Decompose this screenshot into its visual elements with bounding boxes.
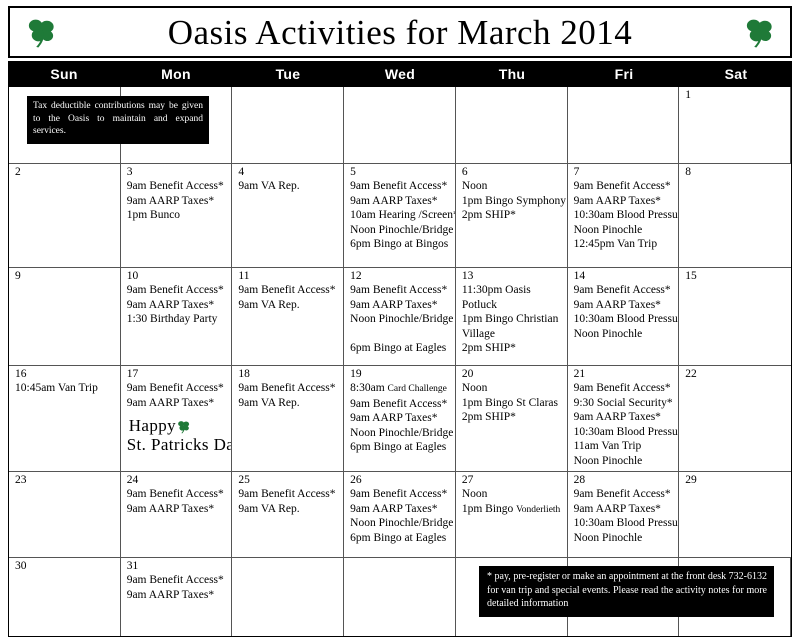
shamrock-icon: [176, 419, 191, 434]
event-item[interactable]: 1pm Bingo Christian: [462, 312, 563, 327]
event-item[interactable]: 1pm Bingo St Claras: [462, 396, 563, 411]
event-item[interactable]: 10am Hearing /Screen*: [350, 208, 451, 223]
day-number: 4: [238, 166, 339, 179]
event-list: 9am Benefit Access*9am AARP Taxes*10am H…: [350, 179, 451, 252]
weekday-tue: Tue: [232, 61, 344, 87]
event-item[interactable]: 2pm SHIP*: [462, 208, 563, 223]
event-item[interactable]: 1pm Bunco: [127, 208, 228, 223]
day-cell-empty[interactable]: [232, 87, 344, 163]
event-list: 9am Benefit Access*9am VA Rep.: [238, 487, 339, 516]
event-list: 9am Benefit Access*9:30 Social Security*…: [574, 381, 675, 468]
event-item[interactable]: 9am AARP Taxes*: [127, 194, 228, 209]
day-cell-10[interactable]: 109am Benefit Access*9am AARP Taxes*1:30…: [121, 268, 233, 365]
event-item[interactable]: 9am VA Rep.: [238, 298, 339, 313]
event-list: 9am Benefit Access*9am AARP Taxes*Noon P…: [350, 487, 451, 545]
event-list: Noon1pm Bingo Symphony2pm SHIP*: [462, 179, 563, 223]
event-item[interactable]: 11am Van Trip: [574, 439, 675, 454]
event-list: 9am Benefit Access*9am AARP Taxes*: [127, 573, 228, 602]
day-cell-1[interactable]: 1: [679, 87, 791, 163]
event-item[interactable]: 9am Benefit Access*: [238, 487, 339, 502]
event-item[interactable]: Noon Pinochle: [574, 223, 675, 238]
event-item[interactable]: Noon Pinochle/Bridge: [350, 223, 451, 238]
footnote-text: * pay, pre-register or make an appointme…: [487, 570, 767, 611]
event-item[interactable]: 6pm Bingo at Eagles: [350, 341, 451, 356]
day-cell-4[interactable]: 49am VA Rep.: [232, 164, 344, 267]
event-item[interactable]: 10:30am Blood Pressure: [574, 425, 675, 440]
event-item[interactable]: 9am Benefit Access*: [350, 179, 451, 194]
day-number: 15: [685, 270, 787, 283]
event-item[interactable]: 9am AARP Taxes*: [127, 396, 228, 411]
event-list: Noon1pm Bingo Vonderlieth: [462, 487, 563, 517]
donation-note-box: Tax deductible contributions may be give…: [27, 96, 209, 144]
day-number: 18: [238, 368, 339, 381]
event-list: 9am Benefit Access*9am AARP Taxes*1pm Bu…: [127, 179, 228, 223]
day-cell-13[interactable]: 1311:30pm OasisPotluck1pm Bingo Christia…: [456, 268, 568, 365]
calendar-grid: 1Tax deductible contributions may be giv…: [8, 87, 792, 637]
st-patricks-line2: St. Patricks Day: [127, 435, 228, 454]
day-number: 14: [574, 270, 675, 283]
week-row: 23249am Benefit Access*9am AARP Taxes*25…: [9, 472, 791, 558]
event-item[interactable]: 9am VA Rep.: [238, 502, 339, 517]
event-item[interactable]: 9am Benefit Access*: [127, 381, 228, 396]
day-number: 21: [574, 368, 675, 381]
day-number: 24: [127, 474, 228, 487]
event-item[interactable]: 9:30 Social Security*: [574, 396, 675, 411]
weekday-mon: Mon: [120, 61, 232, 87]
page-title: Oasis Activities for March 2014: [168, 15, 633, 50]
day-number: 1: [685, 89, 786, 102]
event-list: 8:30am Card Challenge9am Benefit Access*…: [350, 381, 451, 455]
event-item[interactable]: 9am Benefit Access*: [574, 487, 675, 502]
event-list: 9am VA Rep.: [238, 179, 339, 194]
event-spacer: [350, 327, 451, 342]
day-cell-31[interactable]: 319am Benefit Access*9am AARP Taxes*: [121, 558, 233, 636]
day-cell-26[interactable]: 269am Benefit Access*9am AARP Taxes*Noon…: [344, 472, 456, 557]
weekday-fri: Fri: [568, 61, 680, 87]
event-item[interactable]: 9am AARP Taxes*: [350, 411, 451, 426]
shamrock-icon: [742, 15, 776, 49]
week-row: 30319am Benefit Access*9am AARP Taxes** …: [9, 558, 791, 636]
event-list: 9am Benefit Access*9am VA Rep.: [238, 381, 339, 410]
day-number: 29: [685, 474, 787, 487]
day-cell-3[interactable]: 39am Benefit Access*9am AARP Taxes*1pm B…: [121, 164, 233, 267]
event-list: 9am Benefit Access*9am AARP Taxes*10:30a…: [574, 283, 675, 341]
event-item[interactable]: 1:30 Birthday Party: [127, 312, 228, 327]
event-item[interactable]: Noon Pinochle: [574, 327, 675, 342]
event-item[interactable]: 9am Benefit Access*: [127, 283, 228, 298]
day-cell-27[interactable]: 27Noon1pm Bingo Vonderlieth: [456, 472, 568, 557]
event-item[interactable]: 2pm SHIP*: [462, 410, 563, 425]
day-cell-14[interactable]: 149am Benefit Access*9am AARP Taxes*10:3…: [568, 268, 680, 365]
event-item[interactable]: Noon: [462, 179, 563, 194]
day-number: 22: [685, 368, 787, 381]
event-item[interactable]: 9am Benefit Access*: [127, 573, 228, 588]
calendar-page: Oasis Activities for March 2014 Sun Mon …: [0, 0, 800, 643]
day-cell-16[interactable]: 1610:45am Van Trip: [9, 366, 121, 471]
day-cell-18[interactable]: 189am Benefit Access*9am VA Rep.: [232, 366, 344, 471]
event-item[interactable]: 9am Benefit Access*: [238, 381, 339, 396]
day-cell-25[interactable]: 259am Benefit Access*9am VA Rep.: [232, 472, 344, 557]
event-item[interactable]: 9am AARP Taxes*: [574, 298, 675, 313]
event-item[interactable]: 9am AARP Taxes*: [127, 502, 228, 517]
event-list: 10:45am Van Trip: [15, 381, 116, 396]
day-cell-9[interactable]: 9: [9, 268, 121, 365]
event-item[interactable]: Noon: [462, 381, 563, 396]
event-list: 9am Benefit Access*9am AARP Taxes*Noon P…: [350, 283, 451, 356]
weekday-sun: Sun: [8, 61, 120, 87]
day-number: 2: [15, 166, 116, 179]
day-number: 20: [462, 368, 563, 381]
day-cell-empty[interactable]: [456, 87, 568, 163]
day-number: 31: [127, 560, 228, 573]
day-cell-23[interactable]: 23: [9, 472, 121, 557]
day-cell-8[interactable]: 8: [679, 164, 791, 267]
event-item[interactable]: 1pm Bingo Symphony: [462, 194, 563, 209]
day-number: 10: [127, 270, 228, 283]
day-number: 16: [15, 368, 116, 381]
day-number: 26: [350, 474, 451, 487]
day-number: 27: [462, 474, 563, 487]
day-cell-24[interactable]: 249am Benefit Access*9am AARP Taxes*: [121, 472, 233, 557]
week-row: 9109am Benefit Access*9am AARP Taxes*1:3…: [9, 268, 791, 366]
event-item[interactable]: 9am Benefit Access*: [238, 283, 339, 298]
event-item[interactable]: Noon Pinochle: [574, 531, 675, 546]
day-number: 19: [350, 368, 451, 381]
day-cell-5[interactable]: 59am Benefit Access*9am AARP Taxes*10am …: [344, 164, 456, 267]
day-number: 8: [685, 166, 787, 179]
event-item[interactable]: 9am Benefit Access*: [574, 381, 675, 396]
weekday-header-row: Sun Mon Tue Wed Thu Fri Sat: [8, 61, 792, 87]
event-item[interactable]: 10:30am Blood Pressure: [574, 516, 675, 531]
event-item[interactable]: 9am AARP Taxes*: [350, 194, 451, 209]
event-item[interactable]: 9am Benefit Access*: [574, 179, 675, 194]
day-cell-12[interactable]: 129am Benefit Access*9am AARP Taxes*Noon…: [344, 268, 456, 365]
weekday-sat: Sat: [680, 61, 792, 87]
day-cell-empty[interactable]: [232, 558, 344, 636]
event-item[interactable]: 11:30pm Oasis: [462, 283, 563, 298]
event-item[interactable]: Noon: [462, 487, 563, 502]
day-number: 11: [238, 270, 339, 283]
event-item[interactable]: 9am AARP Taxes*: [574, 194, 675, 209]
event-item[interactable]: Village: [462, 327, 563, 342]
day-cell-19[interactable]: 198:30am Card Challenge9am Benefit Acces…: [344, 366, 456, 471]
event-item[interactable]: Potluck: [462, 298, 563, 313]
day-number: 28: [574, 474, 675, 487]
day-number: 13: [462, 270, 563, 283]
day-cell-7[interactable]: 79am Benefit Access*9am AARP Taxes*10:30…: [568, 164, 680, 267]
event-item[interactable]: 9am Benefit Access*: [127, 179, 228, 194]
event-item[interactable]: 6pm Bingo at Bingos: [350, 237, 451, 252]
weekday-wed: Wed: [344, 61, 456, 87]
event-item[interactable]: Noon Pinochle/Bridge: [350, 516, 451, 531]
event-item[interactable]: 9am Benefit Access*: [127, 487, 228, 502]
event-item[interactable]: 8:30am Card Challenge: [350, 381, 451, 397]
week-row: 1Tax deductible contributions may be giv…: [9, 87, 791, 164]
shamrock-icon: [24, 15, 58, 49]
week-row: 239am Benefit Access*9am AARP Taxes*1pm …: [9, 164, 791, 268]
day-number: 25: [238, 474, 339, 487]
day-number: 30: [15, 560, 116, 573]
day-cell-30[interactable]: 30: [9, 558, 121, 636]
day-number: 23: [15, 474, 116, 487]
event-list: Noon1pm Bingo St Claras2pm SHIP*: [462, 381, 563, 425]
donation-note-text: Tax deductible contributions may be give…: [33, 100, 203, 138]
day-cell-empty[interactable]: [568, 87, 680, 163]
event-item[interactable]: 10:30am Blood Pressure: [574, 312, 675, 327]
day-cell-6[interactable]: 6Noon1pm Bingo Symphony2pm SHIP*: [456, 164, 568, 267]
event-item[interactable]: 1pm Bingo Vonderlieth: [462, 502, 563, 518]
event-list: 11:30pm OasisPotluck1pm Bingo ChristianV…: [462, 283, 563, 356]
event-item[interactable]: 9am Benefit Access*: [574, 283, 675, 298]
day-cell-17[interactable]: 179am Benefit Access*9am AARP Taxes*Happ…: [121, 366, 233, 471]
day-number: 3: [127, 166, 228, 179]
day-number: 5: [350, 166, 451, 179]
st-patricks-greeting: Happy: [129, 416, 176, 435]
day-cell-22[interactable]: 22: [679, 366, 791, 471]
day-cell-empty[interactable]: [344, 87, 456, 163]
event-item[interactable]: 9am AARP Taxes*: [127, 588, 228, 603]
footnote-box: * pay, pre-register or make an appointme…: [479, 566, 774, 617]
event-item[interactable]: Noon Pinochle: [574, 454, 675, 469]
event-list: 9am Benefit Access*9am AARP Taxes*10:30a…: [574, 487, 675, 545]
event-list: 9am Benefit Access*9am AARP Taxes*10:30a…: [574, 179, 675, 252]
event-item[interactable]: 10:30am Blood Pressure: [574, 208, 675, 223]
st-patricks-line1: Happy: [127, 416, 228, 435]
event-item[interactable]: 9am AARP Taxes*: [574, 502, 675, 517]
day-cell-21[interactable]: 219am Benefit Access*9:30 Social Securit…: [568, 366, 680, 471]
event-list: 9am Benefit Access*9am VA Rep.: [238, 283, 339, 312]
day-cell-29[interactable]: 29: [679, 472, 791, 557]
day-cell-empty[interactable]: [344, 558, 456, 636]
event-item[interactable]: 9am AARP Taxes*: [574, 410, 675, 425]
event-item[interactable]: 9am AARP Taxes*: [350, 298, 451, 313]
day-number: 9: [15, 270, 116, 283]
day-number: 17: [127, 368, 228, 381]
event-item[interactable]: 9am VA Rep.: [238, 179, 339, 194]
day-cell-28[interactable]: 289am Benefit Access*9am AARP Taxes*10:3…: [568, 472, 680, 557]
day-number: 12: [350, 270, 451, 283]
event-item[interactable]: 6pm Bingo at Eagles: [350, 531, 451, 546]
event-item[interactable]: 9am VA Rep.: [238, 396, 339, 411]
event-item[interactable]: Noon Pinochle/Bridge: [350, 312, 451, 327]
event-item[interactable]: 9am AARP Taxes*: [350, 502, 451, 517]
event-list: 9am Benefit Access*9am AARP Taxes*: [127, 381, 228, 410]
day-cell-15[interactable]: 15: [679, 268, 791, 365]
event-list: 9am Benefit Access*9am AARP Taxes*1:30 B…: [127, 283, 228, 327]
day-number: 6: [462, 166, 563, 179]
event-list: 9am Benefit Access*9am AARP Taxes*: [127, 487, 228, 516]
event-item[interactable]: 12:45pm Van Trip: [574, 237, 675, 252]
event-item[interactable]: Noon Pinochle/Bridge: [350, 426, 451, 441]
weekday-thu: Thu: [456, 61, 568, 87]
day-cell-20[interactable]: 20Noon1pm Bingo St Claras2pm SHIP*: [456, 366, 568, 471]
event-item[interactable]: 9am AARP Taxes*: [127, 298, 228, 313]
day-cell-2[interactable]: 2: [9, 164, 121, 267]
week-row: 1610:45am Van Trip179am Benefit Access*9…: [9, 366, 791, 472]
event-item[interactable]: 9am Benefit Access*: [350, 283, 451, 298]
st-patricks-day-graphic: HappySt. Patricks Day: [127, 416, 228, 454]
event-item[interactable]: 6pm Bingo at Eagles: [350, 440, 451, 455]
title-banner: Oasis Activities for March 2014: [8, 6, 792, 58]
event-item[interactable]: 2pm SHIP*: [462, 341, 563, 356]
event-item[interactable]: 9am Benefit Access*: [350, 397, 451, 412]
event-item[interactable]: 9am Benefit Access*: [350, 487, 451, 502]
day-cell-11[interactable]: 119am Benefit Access*9am VA Rep.: [232, 268, 344, 365]
event-item[interactable]: 10:45am Van Trip: [15, 381, 116, 396]
day-number: 7: [574, 166, 675, 179]
